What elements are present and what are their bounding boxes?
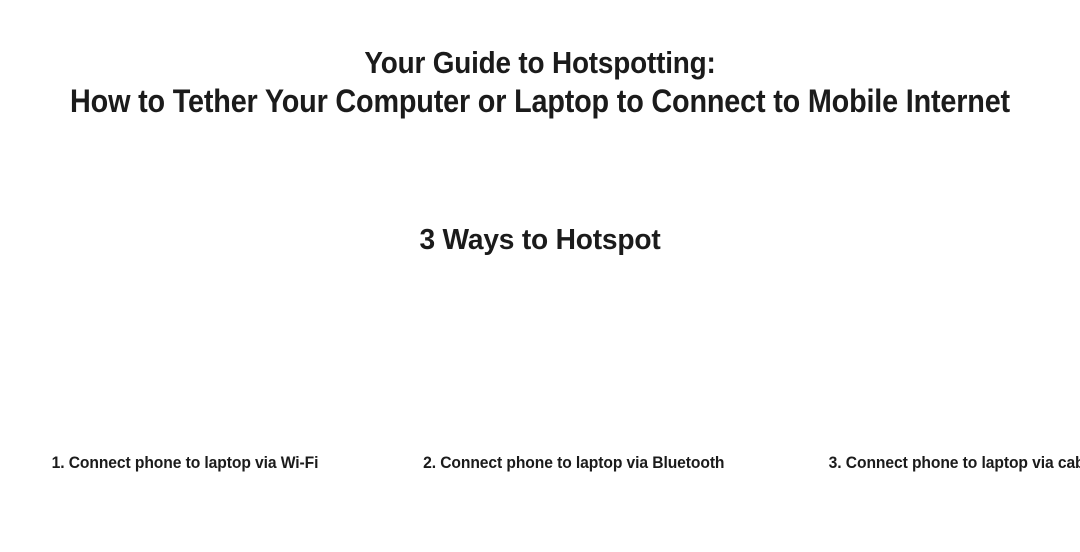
- methods-figure-row: 1. Connect phone to laptop via Wi-Fi 2. …: [0, 292, 1080, 520]
- article-page: Your Guide to Hotspotting: How to Tether…: [0, 0, 1080, 552]
- method-caption-3: 3. Connect phone to laptop via cable: [829, 452, 1080, 504]
- article-header: Your Guide to Hotspotting: How to Tether…: [0, 44, 1080, 120]
- method-caption-1: 1. Connect phone to laptop via Wi-Fi: [52, 452, 319, 504]
- section-heading-container: 3 Ways to Hotspot: [0, 222, 1080, 258]
- page-title-line-1: Your Guide to Hotspotting:: [54, 44, 1026, 82]
- phone-to-laptop-wifi-illustration: [40, 276, 330, 452]
- method-figure-1: 1. Connect phone to laptop via Wi-Fi: [40, 276, 330, 504]
- phone-to-laptop-bluetooth-illustration: [410, 276, 738, 452]
- method-caption-2: 2. Connect phone to laptop via Bluetooth: [423, 452, 724, 504]
- page-title-line-2: How to Tether Your Computer or Laptop to…: [54, 82, 1026, 120]
- phone-to-laptop-cable-illustration: [817, 276, 1080, 452]
- section-heading: 3 Ways to Hotspot: [16, 222, 1064, 258]
- page-title: Your Guide to Hotspotting: How to Tether…: [54, 44, 1026, 120]
- method-figure-2: 2. Connect phone to laptop via Bluetooth: [410, 276, 738, 504]
- method-figure-3: 3. Connect phone to laptop via cable: [817, 276, 1080, 504]
